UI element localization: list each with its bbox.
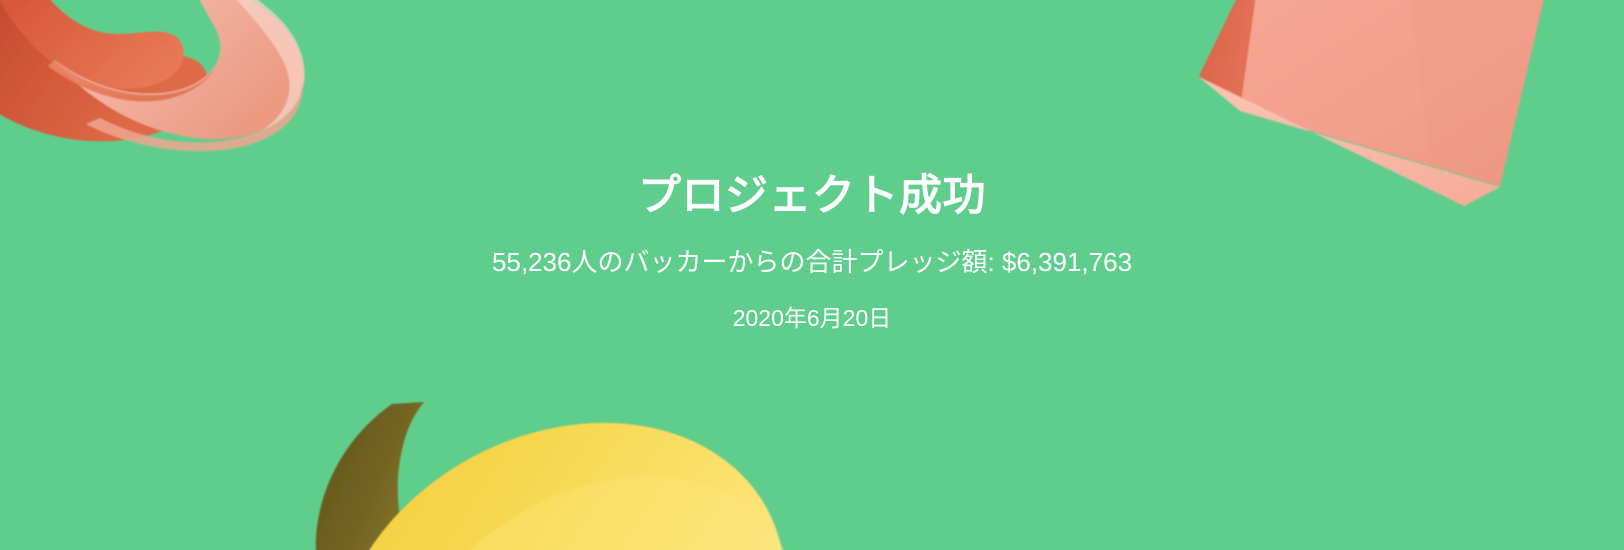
project-date-text: 2020年6月20日: [733, 305, 892, 333]
project-success-banner: プロジェクト成功 55,236人のバッカーからの合計プレッジ額: $6,391,…: [0, 0, 1624, 550]
pledge-summary-text: 55,236人のバッカーからの合計プレッジ額: $6,391,763: [492, 247, 1132, 278]
page-title: プロジェクト成功: [638, 173, 986, 220]
banner-text-content: プロジェクト成功 55,236人のバッカーからの合計プレッジ額: $6,391,…: [0, 0, 1624, 550]
